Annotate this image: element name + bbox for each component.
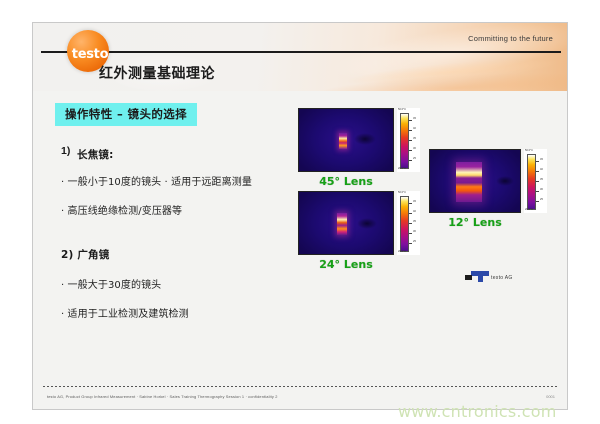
color-scale-bar-45 <box>400 113 409 169</box>
section-spacer <box>61 217 311 247</box>
thermal-panel-24: 50.0°C 45 40 35 30 25 20.0°C 24° Lens <box>298 191 420 271</box>
page-title: 红外测量基础理论 <box>99 63 215 83</box>
scale-tick-12-2: 40 <box>540 169 543 172</box>
scale-tick-24-1: 45 <box>413 201 416 204</box>
text-column: 1) 长焦镜: · 一般小于10度的镜头 · 适用于远距离测量 · 高压线绝缘检… <box>61 145 311 320</box>
section-2-bullet-1: · 一般大于30度的镜头 <box>61 276 311 291</box>
scale-tick-24-2: 40 <box>413 211 416 214</box>
thermal-panel-45: 50.0°C 45 40 35 30 25 20.0°C 45° Lens <box>298 108 420 188</box>
scale-tick-24-5: 25 <box>413 241 416 244</box>
scale-tick-12-3: 35 <box>540 179 543 182</box>
thermal-hotspot-45 <box>339 133 347 149</box>
lens-label-12: 12° Lens <box>429 216 521 229</box>
page-number: 0001 <box>546 394 555 399</box>
scale-tick-12-4: 30 <box>540 189 543 192</box>
scale-min-label-45: 20.0°C <box>398 167 406 170</box>
scale-tick-45-5: 25 <box>413 158 416 161</box>
thermal-image-12 <box>429 149 521 213</box>
scale-tick-12-5: 25 <box>540 199 543 202</box>
scale-tick-24-4: 30 <box>413 231 416 234</box>
scale-tick-24-3: 35 <box>413 221 416 224</box>
scale-tick-45-2: 40 <box>413 128 416 131</box>
scale-min-label-12: 20.0°C <box>525 208 533 211</box>
thermal-scale-12: 50.0°C 45 40 35 30 25 20.0°C <box>524 149 547 213</box>
thermal-image-45 <box>298 108 394 172</box>
section-1-bullet-1: · 一般小于10度的镜头 · 适用于远距离测量 <box>61 173 311 188</box>
thermal-scale-45: 50.0°C 45 40 35 30 25 20.0°C <box>397 108 420 172</box>
scale-tick-45-1: 45 <box>413 118 416 121</box>
lens-label-24: 24° Lens <box>298 258 394 271</box>
scale-tick-45-3: 35 <box>413 138 416 141</box>
thermal-smudge <box>354 133 376 145</box>
header-rule <box>41 51 561 53</box>
scale-tick-45-4: 30 <box>413 148 416 151</box>
section-1-number: 1) <box>61 145 70 157</box>
site-watermark: www.cntronics.com <box>398 402 556 421</box>
section-1-title: 长焦镜: <box>77 149 114 161</box>
color-scale-bar-12 <box>527 154 536 210</box>
thermal-image-24 <box>298 191 394 255</box>
scale-max-label-12: 50.0°C <box>525 149 533 152</box>
scale-max-label-45: 50.0°C <box>398 108 406 111</box>
color-scale-bar-24 <box>400 196 409 252</box>
scale-min-label-24: 20.0°C <box>398 250 406 253</box>
section-1-header: 1) 长焦镜: <box>61 145 311 159</box>
section-2-bullet-2: · 适用于工业检测及建筑检测 <box>61 305 311 320</box>
thermal-hotspot-12 <box>456 162 482 202</box>
thermal-hotspot-24 <box>337 213 347 235</box>
thermal-panel-12: 50.0°C 45 40 35 30 25 20.0°C 12° Lens <box>429 149 547 229</box>
section-1-bullet-2: · 高压线绝缘检测/变压器等 <box>61 202 311 217</box>
thermal-scale-24: 50.0°C 45 40 35 30 25 20.0°C <box>397 191 420 255</box>
slide-header: Committing to the future testo 红外测量基础理论 <box>33 23 567 91</box>
lens-label-45: 45° Lens <box>298 175 394 188</box>
section-2-title: 2) 广角镜 <box>61 247 311 262</box>
slide-body: 操作特性 – 镜头的选择 1) 长焦镜: · 一般小于10度的镜头 · 适用于远… <box>33 91 567 409</box>
partial-brand-logo: testo AG <box>465 269 535 283</box>
footer-text: testo AG, Product Group Infrared Measure… <box>47 394 278 399</box>
company-tagline: Committing to the future <box>468 34 553 43</box>
footer-divider <box>43 386 557 387</box>
section-heading: 操作特性 – 镜头的选择 <box>55 103 197 126</box>
scale-tick-12-1: 45 <box>540 159 543 162</box>
thermal-smudge <box>496 176 514 186</box>
testo-logo-text: testo <box>65 47 115 62</box>
thermal-smudge <box>357 218 377 229</box>
scale-max-label-24: 50.0°C <box>398 191 406 194</box>
slide: Committing to the future testo 红外测量基础理论 … <box>32 22 568 410</box>
